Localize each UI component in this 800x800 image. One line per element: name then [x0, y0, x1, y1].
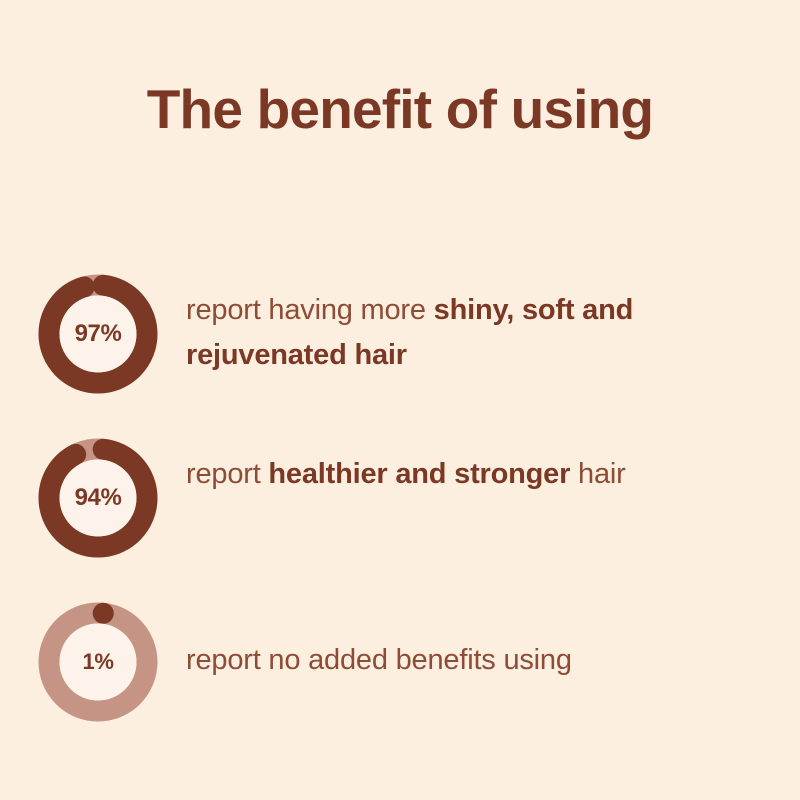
donut-svg: [38, 274, 158, 394]
donut-inner-fill: [60, 624, 137, 701]
stat-description: report no added benefits using: [186, 638, 706, 683]
stat-text-plain-before: report having more: [186, 294, 434, 326]
donut-chart-97: 97%: [38, 274, 158, 394]
stat-row: 1% report no added benefits using: [0, 590, 800, 738]
stats-list: 97% report having more shiny, soft and r…: [0, 262, 800, 754]
stat-description: report having more shiny, soft and rejuv…: [186, 288, 706, 378]
page-title: The benefit of using: [0, 76, 800, 142]
donut-inner-fill: [60, 460, 137, 537]
stat-text-plain-before: report no added benefits using: [186, 644, 572, 676]
infographic-page: The benefit of using 97% report having m…: [0, 0, 800, 800]
stat-text-plain-after: hair: [570, 458, 625, 490]
donut-chart-94: 94%: [38, 438, 158, 558]
stat-text-plain-before: report: [186, 458, 268, 490]
donut-svg: [38, 438, 158, 558]
stat-row: 94% report healthier and stronger hair: [0, 426, 800, 574]
donut-svg: [38, 602, 158, 722]
donut-chart-1: 1%: [38, 602, 158, 722]
stat-description: report healthier and stronger hair: [186, 452, 706, 497]
stat-row: 97% report having more shiny, soft and r…: [0, 262, 800, 410]
stat-text-bold: healthier and stronger: [268, 458, 570, 490]
donut-inner-fill: [60, 296, 137, 373]
